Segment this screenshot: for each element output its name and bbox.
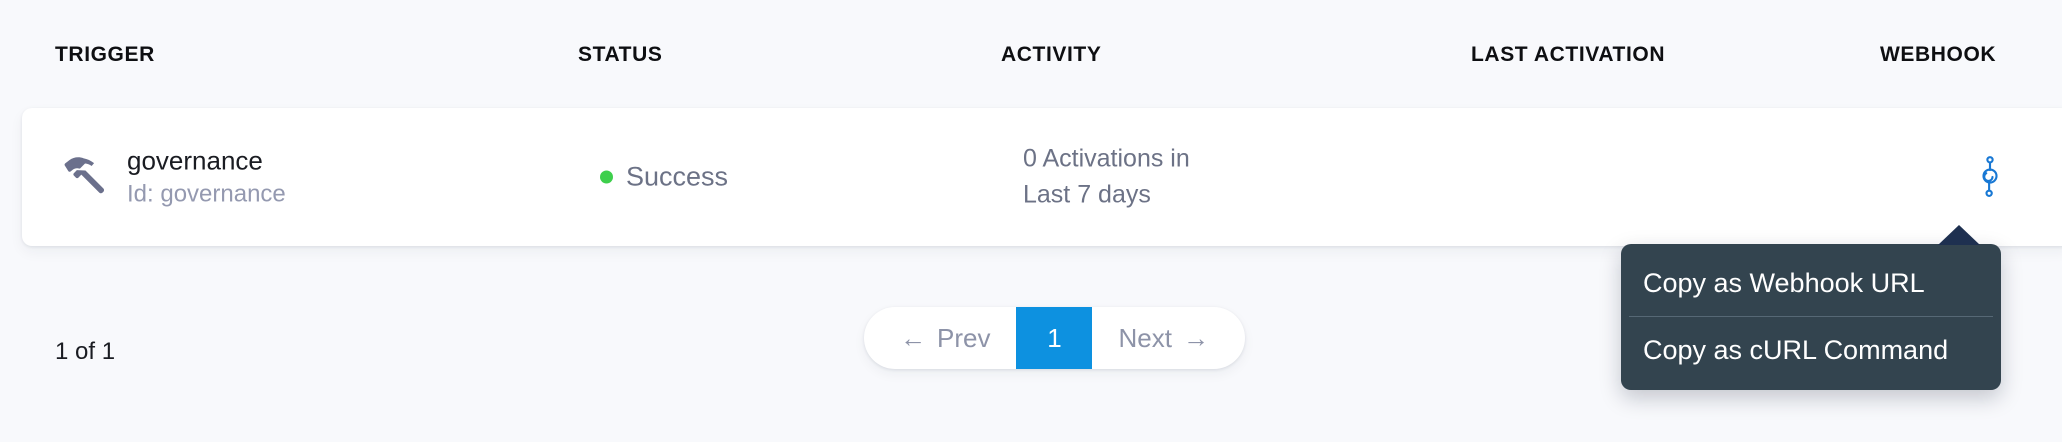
activity-line-2: Last 7 days bbox=[1023, 177, 1190, 213]
column-header-last-activation: LAST ACTIVATION bbox=[1471, 43, 1665, 67]
popup-caret-icon bbox=[1938, 225, 1980, 245]
column-header-trigger: TRIGGER bbox=[55, 43, 155, 67]
pagination-page-1-button[interactable]: 1 bbox=[1016, 307, 1092, 369]
hammer-icon bbox=[55, 150, 109, 204]
pagination-prev-button[interactable]: ← Prev bbox=[864, 307, 1016, 369]
column-header-status: STATUS bbox=[578, 43, 662, 67]
trigger-text-block: governance Id: governance bbox=[127, 146, 286, 209]
status-dot-icon bbox=[600, 171, 613, 184]
activity-line-1: 0 Activations in bbox=[1023, 142, 1190, 178]
column-header-webhook: WEBHOOK bbox=[1880, 43, 1996, 67]
webhook-icon bbox=[1975, 155, 2005, 199]
cell-trigger: governance Id: governance bbox=[55, 146, 286, 209]
table-header-row: TRIGGER STATUS ACTIVITY LAST ACTIVATION … bbox=[0, 0, 2062, 108]
table-row[interactable]: governance Id: governance Success 0 Acti… bbox=[22, 108, 2062, 246]
trigger-id: Id: governance bbox=[127, 179, 286, 208]
cell-activity: 0 Activations in Last 7 days bbox=[1023, 142, 1190, 213]
pagination-prev-label: Prev bbox=[937, 323, 990, 354]
status-label: Success bbox=[626, 162, 728, 193]
pagination: ← Prev 1 Next → bbox=[864, 307, 1245, 369]
trigger-name: governance bbox=[127, 146, 286, 178]
cell-status: Success bbox=[600, 162, 728, 193]
menu-item-copy-webhook-url[interactable]: Copy as Webhook URL bbox=[1621, 250, 2001, 316]
column-header-activity: ACTIVITY bbox=[1001, 43, 1101, 67]
arrow-left-icon: ← bbox=[900, 325, 926, 351]
webhook-action-button[interactable] bbox=[1962, 149, 2018, 205]
webhook-copy-menu[interactable]: Copy as Webhook URL Copy as cURL Command bbox=[1621, 244, 2001, 390]
pagination-next-button[interactable]: Next → bbox=[1092, 307, 1244, 369]
arrow-right-icon: → bbox=[1183, 325, 1209, 351]
triggers-table-page: TRIGGER STATUS ACTIVITY LAST ACTIVATION … bbox=[0, 0, 2062, 442]
pagination-next-label: Next bbox=[1118, 323, 1171, 354]
menu-item-copy-curl-command[interactable]: Copy as cURL Command bbox=[1621, 317, 2001, 383]
cell-last-activation bbox=[1493, 162, 1823, 192]
result-count-label: 1 of 1 bbox=[55, 338, 115, 366]
